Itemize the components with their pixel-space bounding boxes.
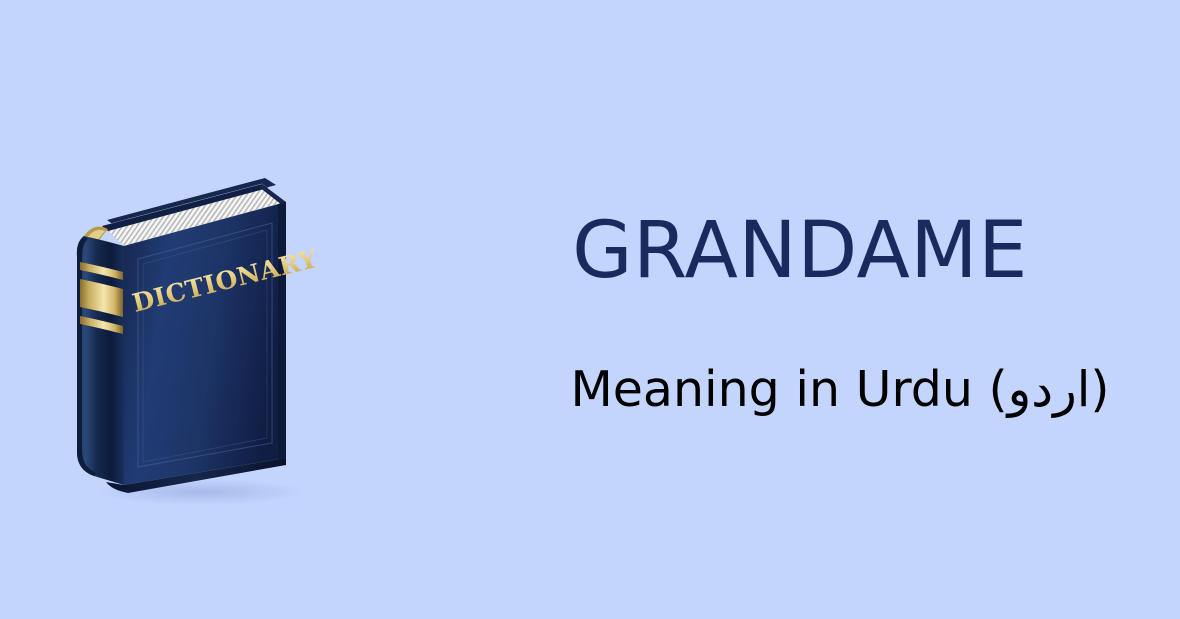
- subtitle: Meaning in Urdu (اردو): [500, 365, 1180, 414]
- page-root: DICTIONARY GRANDAME Meaning in Urdu (ارد…: [0, 0, 1180, 619]
- dictionary-book-icon: DICTIONARY: [50, 140, 330, 520]
- subtitle-english: Meaning in Urdu: [571, 361, 989, 418]
- book-fore-edge: [278, 202, 286, 460]
- book-front-cover: [124, 202, 286, 485]
- dictionary-book-illustration: DICTIONARY: [50, 140, 330, 520]
- word-text-block: GRANDAME Meaning in Urdu (اردو): [500, 200, 1180, 450]
- subtitle-urdu: (اردو): [988, 361, 1109, 418]
- page-title: GRANDAME: [500, 212, 1100, 290]
